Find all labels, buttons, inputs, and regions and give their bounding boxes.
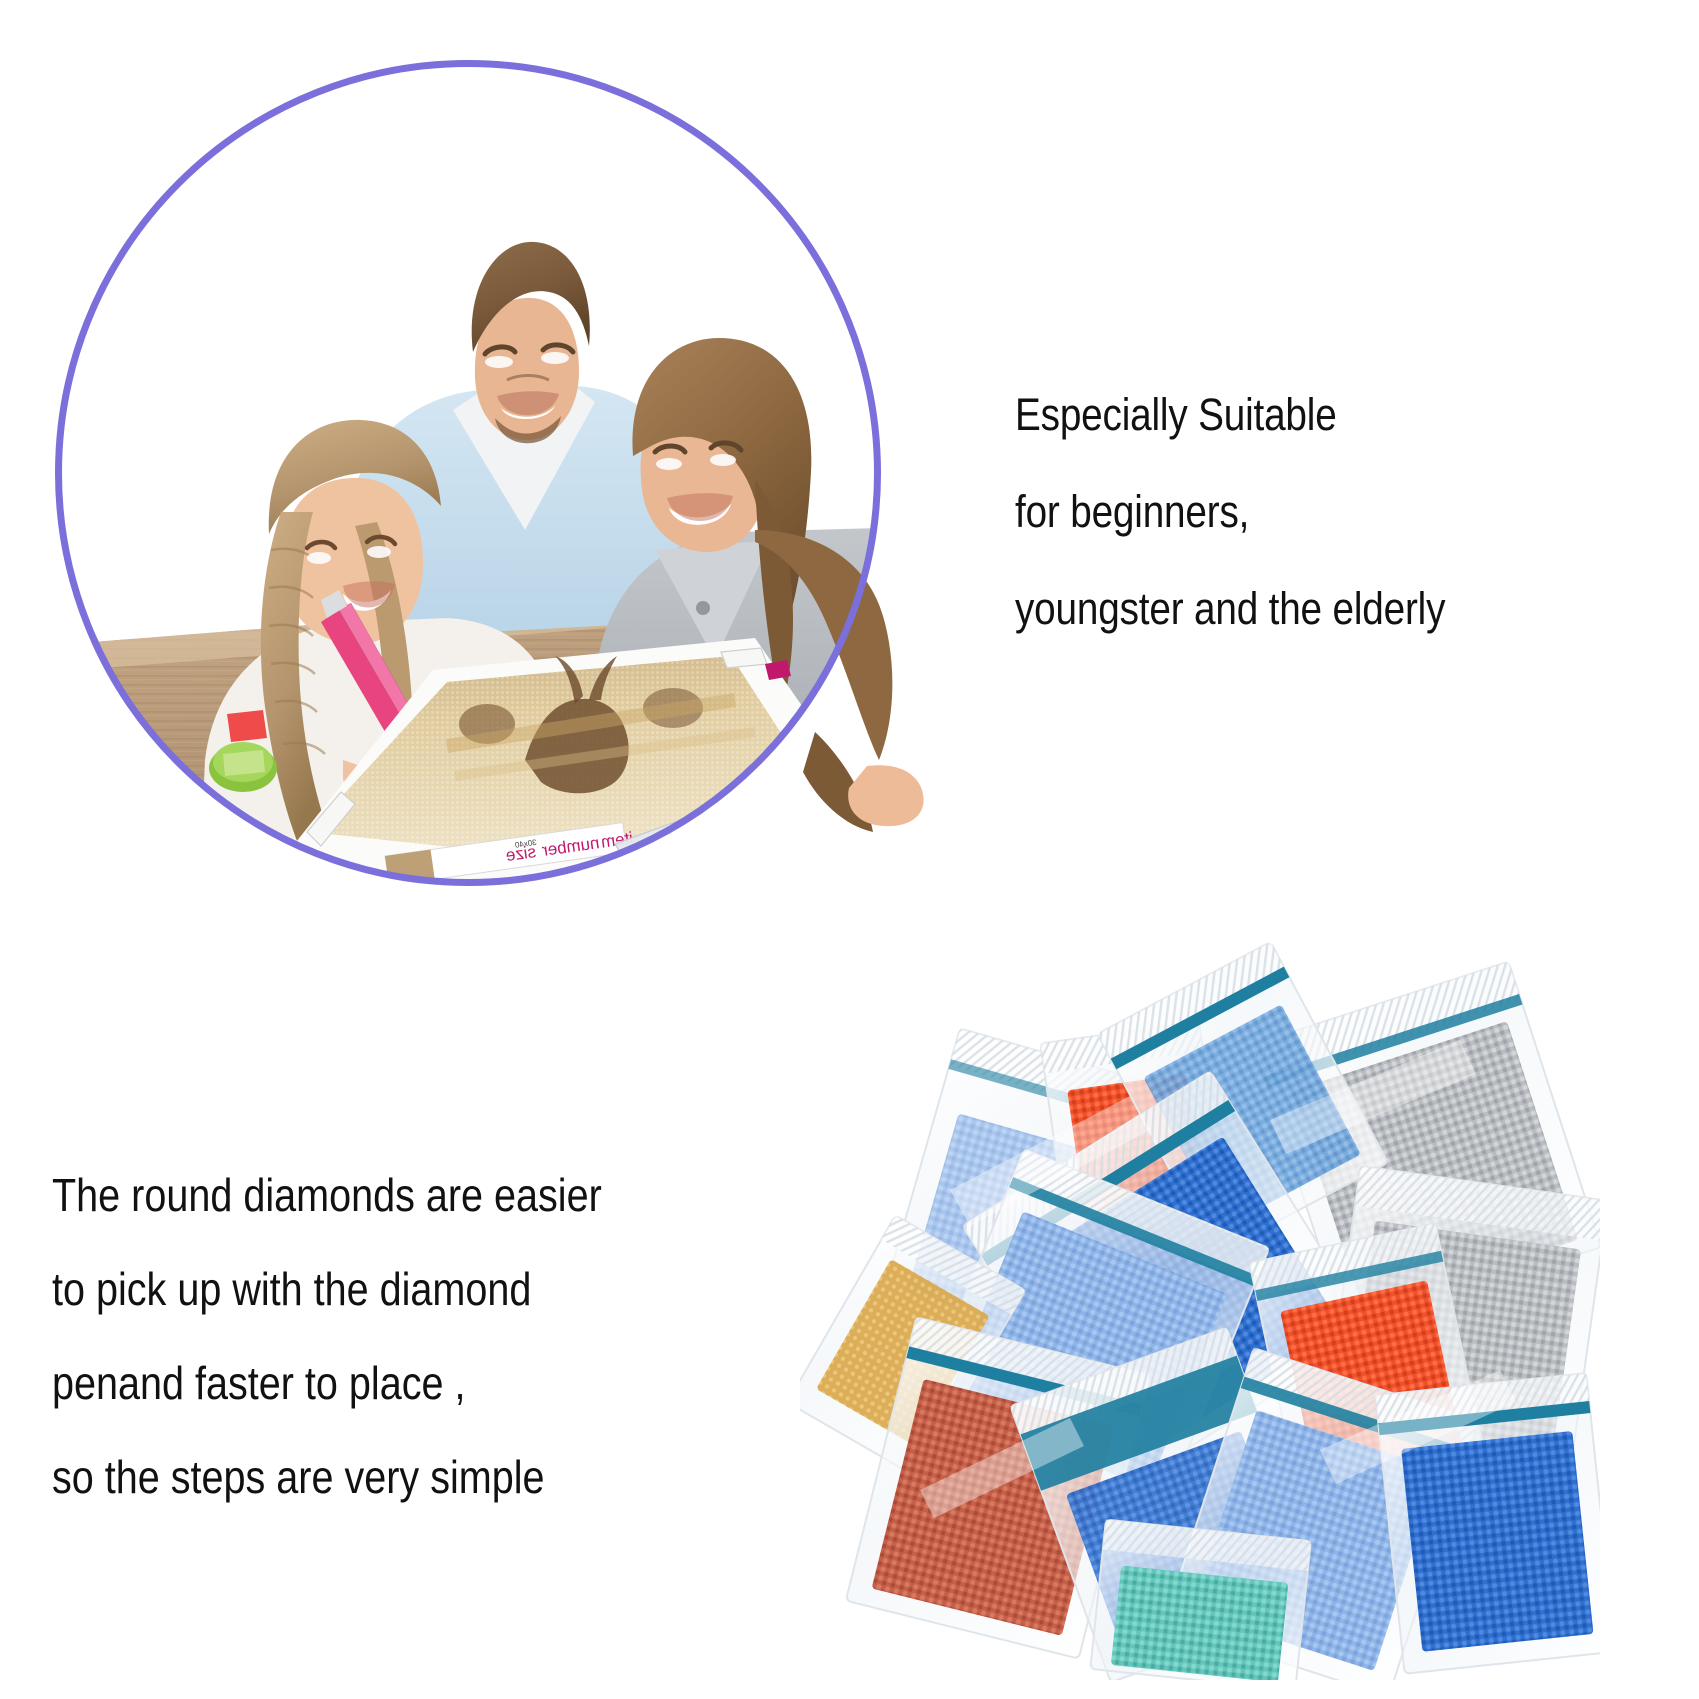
diamond-drill-bags-photo bbox=[800, 890, 1600, 1680]
headline-text-block: Especially Suitable for beginners, young… bbox=[1015, 392, 1655, 683]
body-line-1: The round diamonds are easier bbox=[52, 1172, 740, 1218]
body-line-4: so the steps are very simple bbox=[52, 1454, 740, 1500]
family-photo-image: size number item 30x40 bbox=[55, 60, 881, 886]
headline-line-3: youngster and the elderly bbox=[1015, 586, 1565, 631]
headline-line-2: for beginners, bbox=[1015, 489, 1565, 534]
family-photo-circle: size number item 30x40 bbox=[55, 60, 881, 886]
headline-line-1: Especially Suitable bbox=[1015, 392, 1565, 437]
body-line-3: penand faster to place , bbox=[52, 1360, 740, 1406]
drill-bags-svg bbox=[800, 890, 1600, 1680]
bag-teal-mint-bottom bbox=[1090, 1520, 1311, 1680]
body-line-2: to pick up with the diamond bbox=[52, 1266, 740, 1312]
family-scene-svg: size number item 30x40 bbox=[55, 60, 881, 886]
body-text-block: The round diamonds are easier to pick up… bbox=[52, 1172, 852, 1548]
red-marker-square bbox=[227, 710, 267, 742]
